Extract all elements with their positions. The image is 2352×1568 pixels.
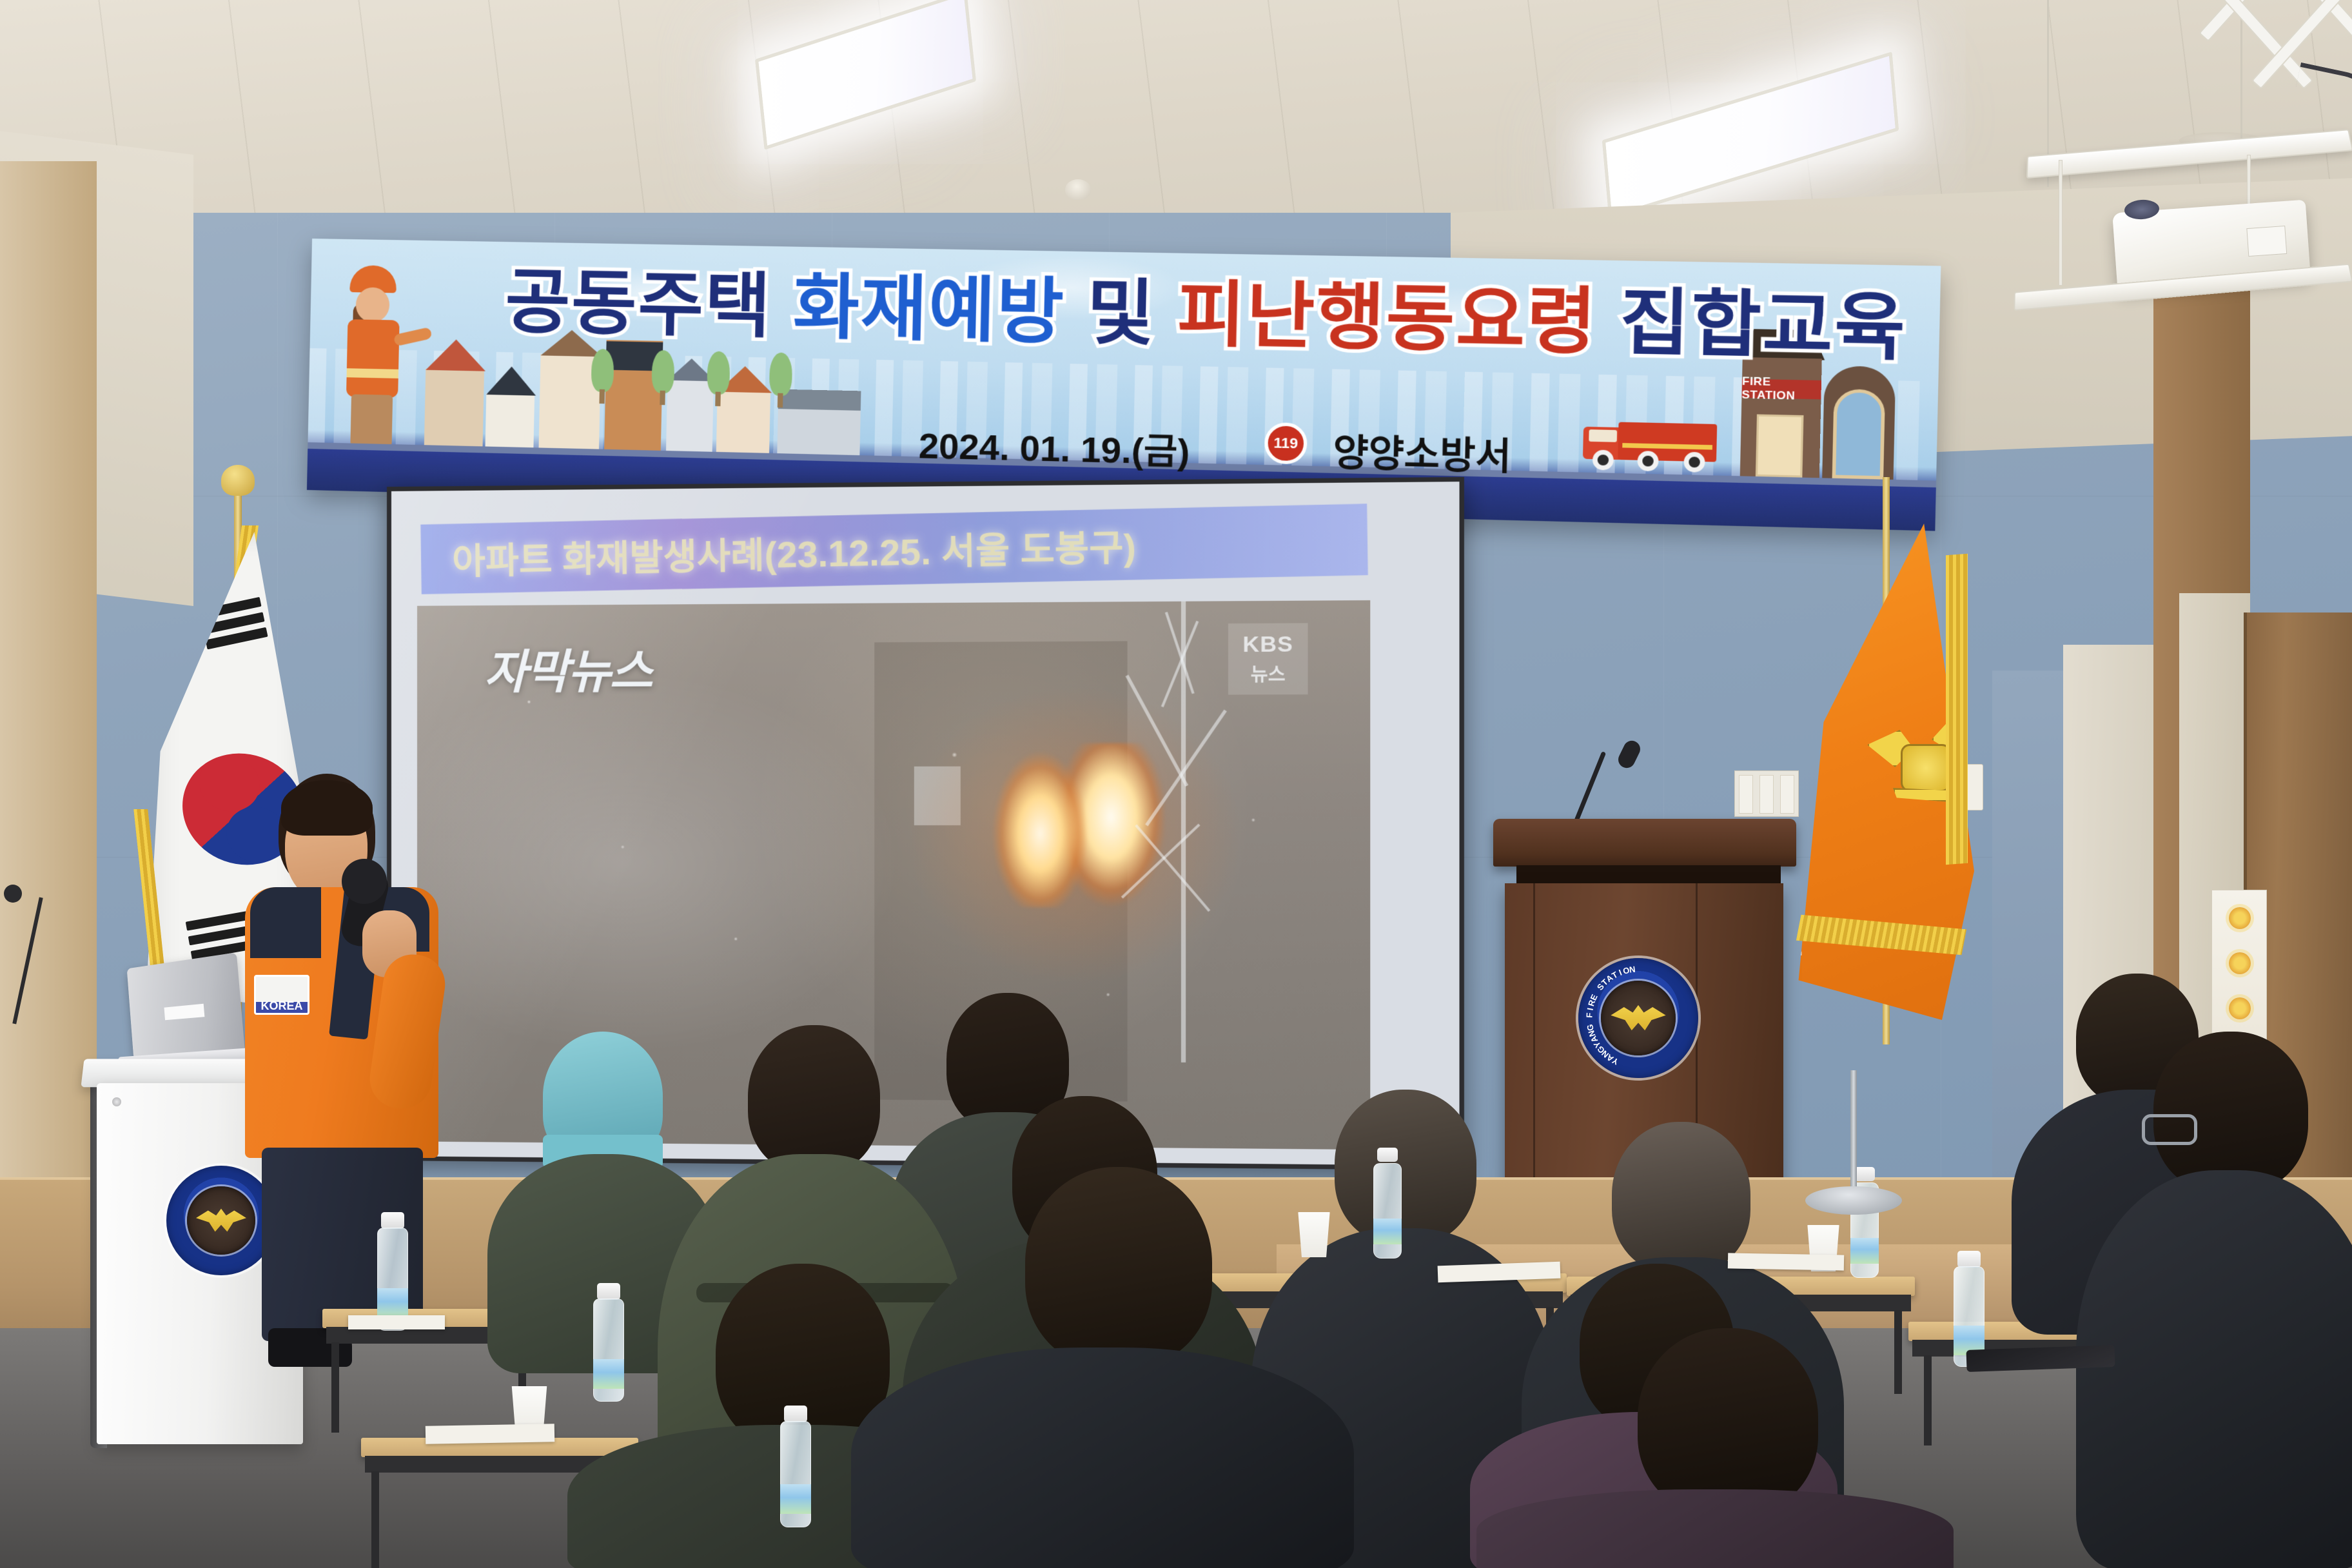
projector-rod	[2059, 160, 2063, 286]
laptop-lid	[127, 952, 246, 1059]
table-microphone-icon[interactable]	[0, 877, 58, 1044]
banner-houses-illustration	[418, 329, 921, 458]
head	[1025, 1167, 1212, 1367]
shoulders	[1476, 1489, 1954, 1568]
projector-label	[2246, 226, 2287, 257]
flag-finial-icon	[221, 465, 255, 496]
water-bottle[interactable]	[377, 1212, 408, 1331]
korea-flag-patch-icon: KOREA	[254, 975, 309, 1015]
speaker-hair-front	[281, 780, 373, 836]
banner-title-part3: 및	[1086, 272, 1156, 353]
firefighter-illustration-icon	[327, 265, 421, 454]
banner-date: 2024. 01. 19.(금)	[918, 416, 1190, 475]
flower-icon	[2229, 907, 2251, 929]
glasses-icon	[2142, 1114, 2197, 1145]
broadcaster-sub: 뉴스	[1251, 660, 1286, 686]
fire-station-sign-label: FIRE STATION	[1741, 379, 1821, 400]
head	[2153, 1032, 2308, 1193]
laptop-sticker	[164, 1004, 205, 1021]
microphone-head-icon	[342, 859, 387, 904]
slide-title: 아파트 화재발생사례(23.12.25. 서울 도봉구)	[452, 518, 1137, 585]
paper-cup[interactable]	[1296, 1212, 1332, 1257]
head	[1335, 1090, 1476, 1244]
ceiling-projector	[1989, 0, 2352, 445]
screw-icon	[112, 1097, 121, 1106]
presenter-laptop[interactable]	[122, 961, 251, 1073]
banner-title-part1: 공동주택	[504, 262, 772, 346]
banner-title-part4: 피난행동요령	[1177, 273, 1598, 362]
shoulders	[851, 1347, 1354, 1568]
gooseneck-microphone-icon[interactable]	[1573, 743, 1657, 827]
water-bottle[interactable]	[1373, 1148, 1402, 1257]
attendee-front-right	[1476, 1328, 1954, 1568]
handout-paper[interactable]	[426, 1424, 554, 1444]
shoulders	[2076, 1170, 2352, 1568]
lecture-hall-photo: FIRE STATION 공동주택 화재예방 및 피난행동요령 집합교육 202…	[0, 0, 2352, 1568]
banner-organization: 양양소방서	[1333, 422, 1512, 480]
attendee-glasses-right	[2095, 1032, 2352, 1567]
flag-fringe	[1946, 554, 1968, 865]
podium-top	[1493, 819, 1796, 867]
attendee-front-center	[851, 1167, 1354, 1568]
trigram-geon-icon	[199, 597, 269, 655]
water-bottle[interactable]	[593, 1283, 624, 1402]
broadcaster-name: KBS	[1243, 631, 1293, 657]
head	[1612, 1122, 1750, 1273]
ceiling-speaker-icon	[1065, 179, 1091, 200]
fire-department-flag: 소방서	[1786, 477, 1979, 1044]
head	[748, 1025, 880, 1173]
handout-paper[interactable]	[1728, 1253, 1844, 1270]
mic-stand-pole	[1850, 1070, 1857, 1193]
uniform-shoulder-navy	[250, 887, 321, 958]
slide-header: 아파트 화재발생사례(23.12.25. 서울 도봉구)	[420, 504, 1367, 594]
head	[1638, 1328, 1818, 1515]
broadcaster-watermark: KBS 뉴스	[1228, 623, 1308, 694]
projector-mount-plate	[2026, 129, 2352, 179]
banner-title-part5: 집합교육	[1619, 281, 1908, 368]
mic-stand-base	[1805, 1186, 1902, 1215]
flower-icon	[2229, 952, 2251, 974]
handout-paper[interactable]	[348, 1315, 445, 1329]
video-program-logo: 자막뉴스	[484, 633, 651, 702]
water-bottle[interactable]	[780, 1406, 811, 1528]
fire-truck-illustration-icon	[1583, 413, 1718, 473]
yangyang-fire-station-emblem-icon: YANGYANG FIRE STATION	[1578, 958, 1698, 1078]
banner-title-part2: 화재예방	[792, 267, 1066, 351]
